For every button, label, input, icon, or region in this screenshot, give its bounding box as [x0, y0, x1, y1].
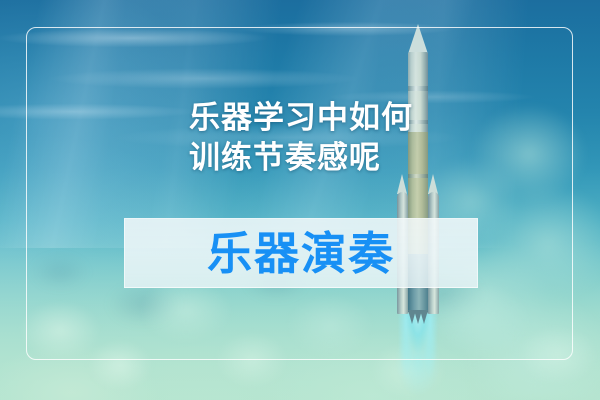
poster-canvas: 乐器学习中如何 训练节奏感呢 乐器演奏: [0, 0, 600, 400]
label-band: 乐器演奏: [124, 218, 478, 288]
headline-line-1: 乐器学习中如何: [189, 98, 449, 138]
headline: 乐器学习中如何 训练节奏感呢: [189, 98, 449, 178]
label-band-text: 乐器演奏: [207, 231, 395, 276]
headline-line-2: 训练节奏感呢: [189, 138, 449, 178]
color-tint-overlay: [0, 0, 600, 400]
